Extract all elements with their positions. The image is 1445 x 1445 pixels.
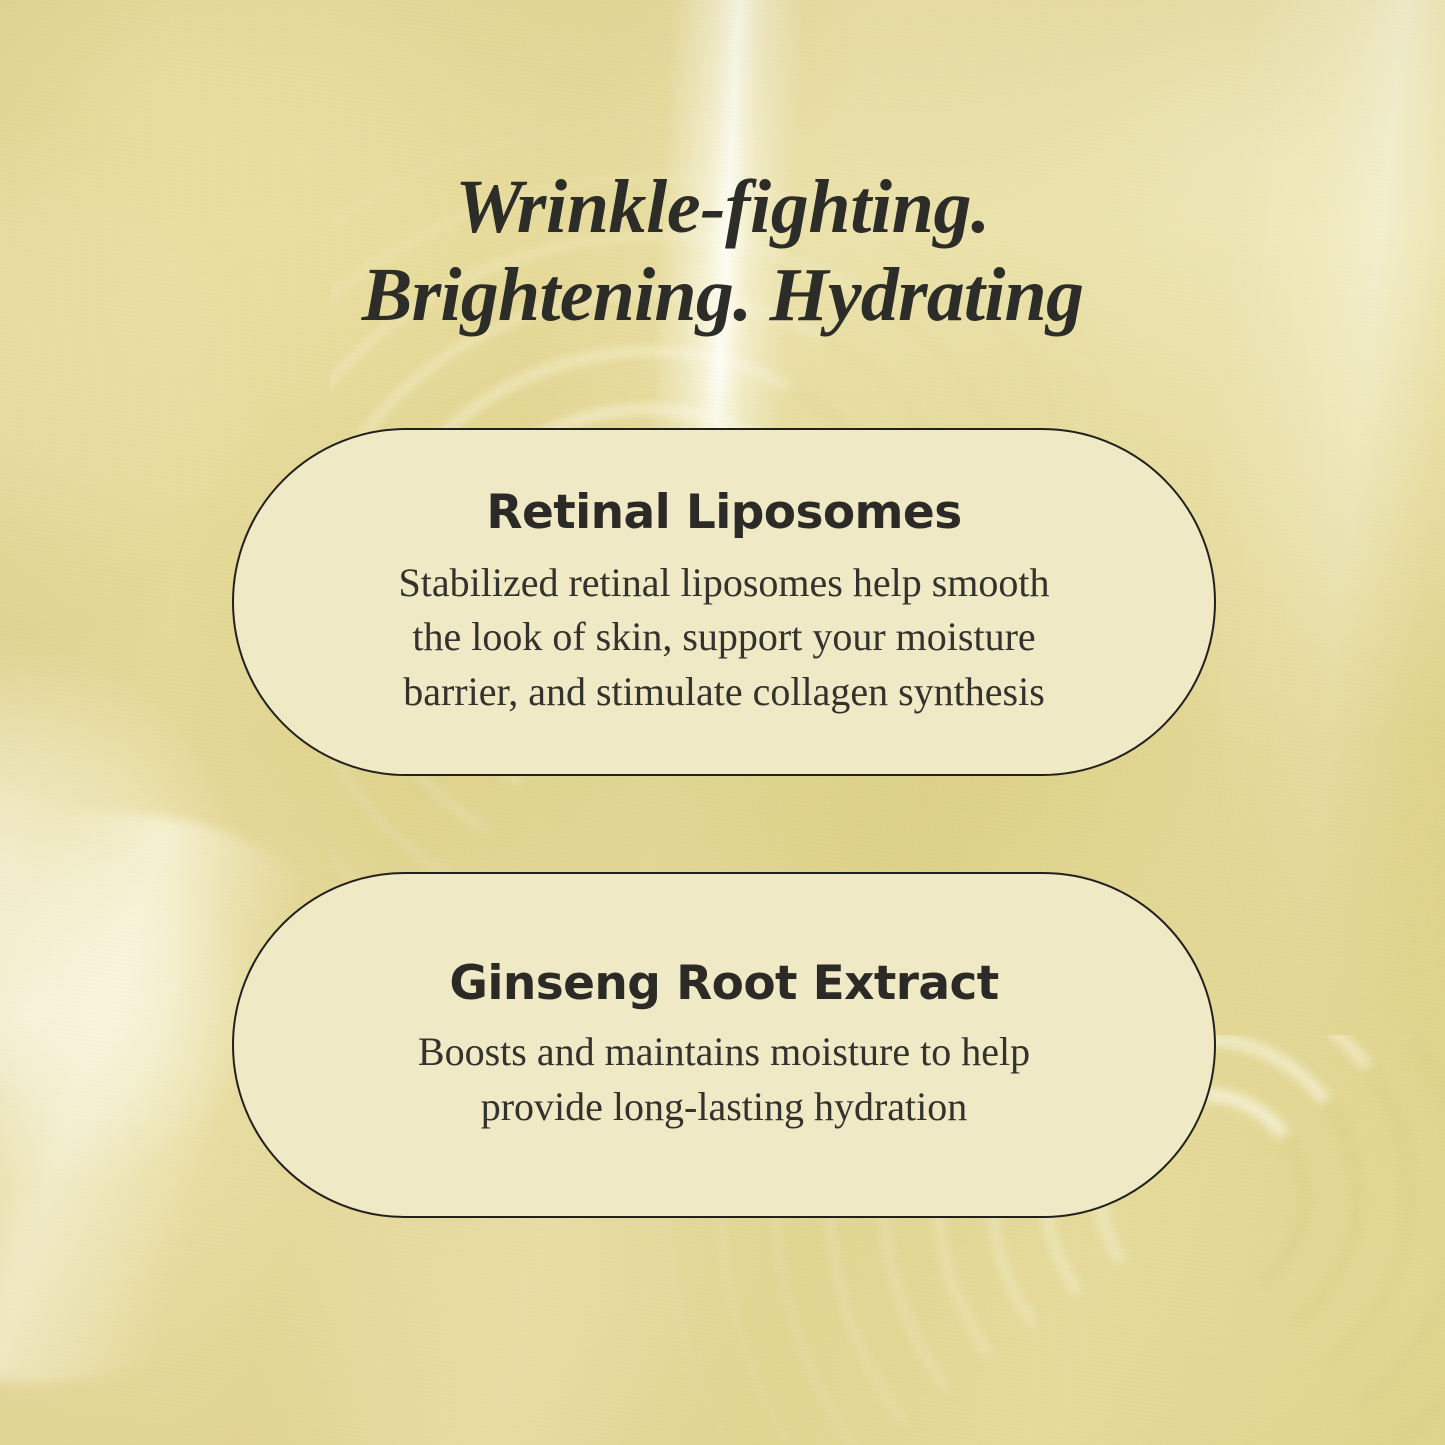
ingredient-benefits-poster: Wrinkle-fighting. Brightening. Hydrating…	[0, 0, 1445, 1445]
card-body-retinal-liposomes: Stabilized retinal liposomes help smooth…	[384, 556, 1064, 719]
ingredient-card-retinal-liposomes: Retinal Liposomes Stabilized retinal lip…	[232, 428, 1216, 776]
card-title-ginseng-root-extract: Ginseng Root Extract	[449, 956, 998, 1011]
ingredient-card-ginseng-root-extract: Ginseng Root Extract Boosts and maintain…	[232, 872, 1216, 1218]
card-body-ginseng-root-extract: Boosts and maintains moisture to help pr…	[384, 1025, 1064, 1134]
page-headline: Wrinkle-fighting. Brightening. Hydrating	[0, 163, 1445, 339]
card-title-retinal-liposomes: Retinal Liposomes	[486, 485, 961, 540]
headline-line-1: Wrinkle-fighting.	[0, 163, 1445, 251]
headline-line-2: Brightening. Hydrating	[0, 251, 1445, 339]
